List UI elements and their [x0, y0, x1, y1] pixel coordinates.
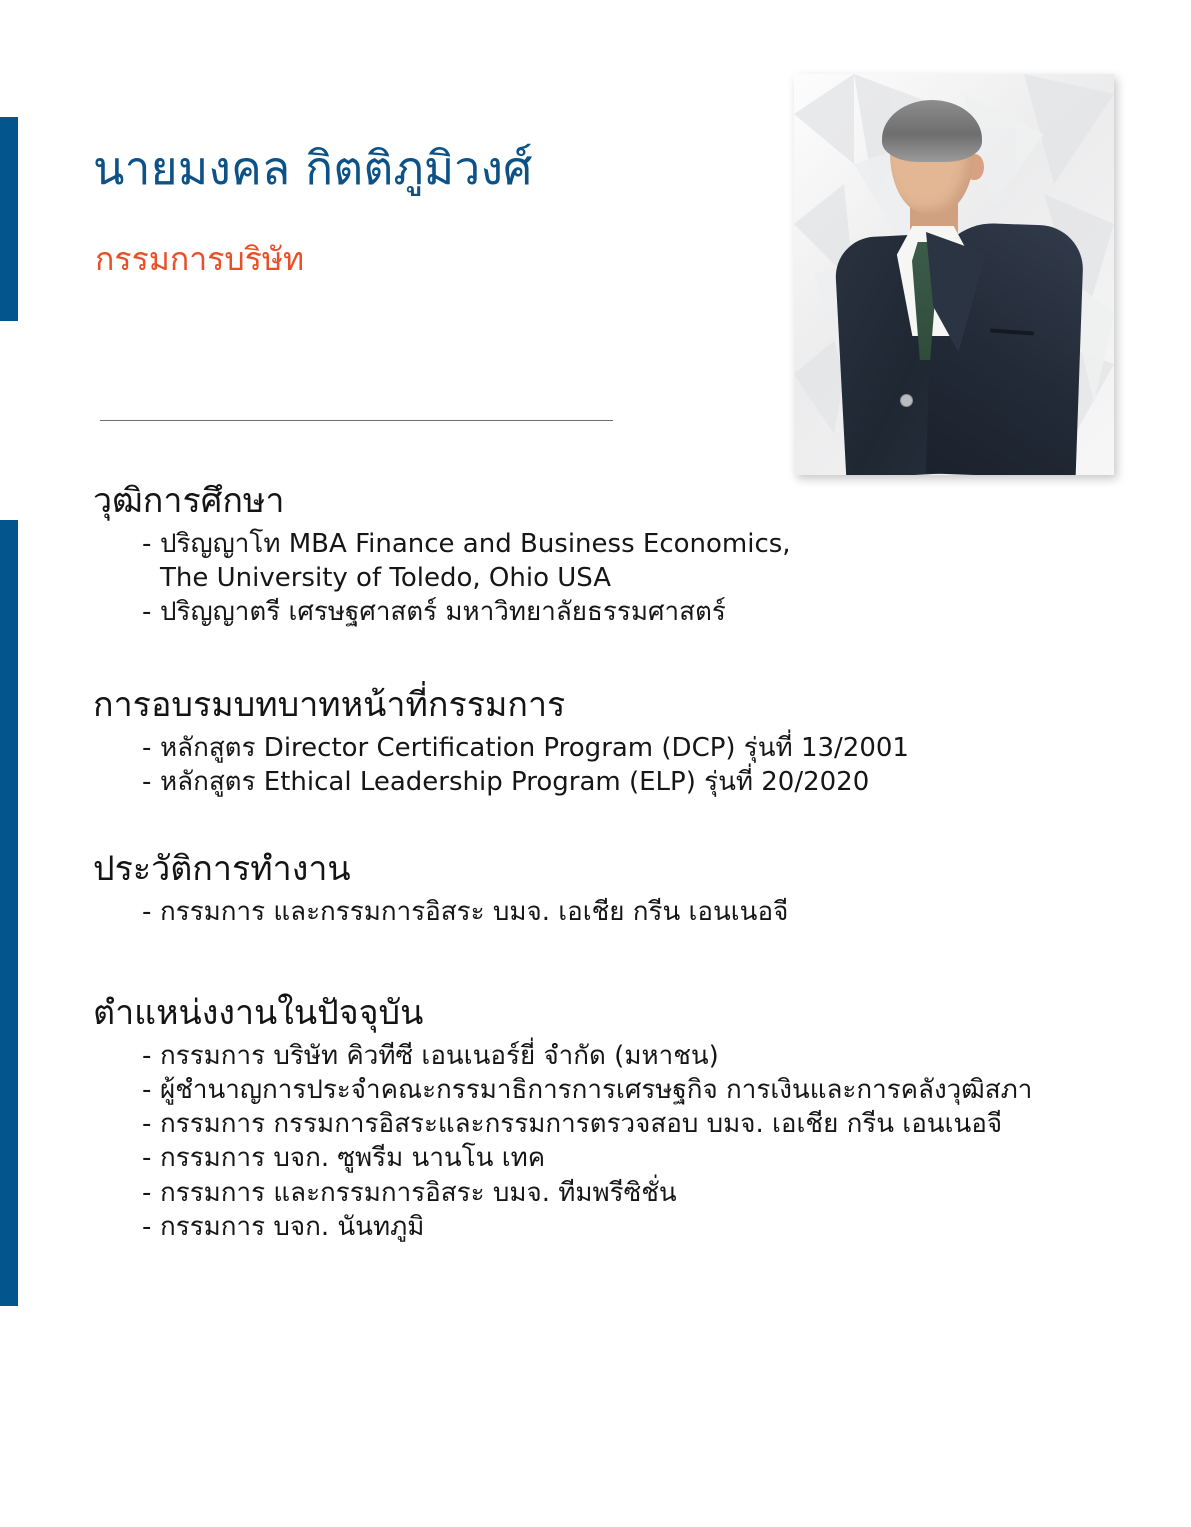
- section-work-history-title: ประวัติการทำงาน: [93, 848, 788, 891]
- section-work-history-list: กรรมการ และกรรมการอิสระ บมจ. เอเชีย กรีน…: [93, 895, 788, 929]
- accent-bar-bottom: [0, 520, 18, 1306]
- list-item: ปริญญาตรี เศรษฐศาสตร์ มหาวิทยาลัยธรรมศาส…: [93, 595, 791, 629]
- section-training-list: หลักสูตร Director Certification Program …: [93, 731, 909, 800]
- list-item: ปริญญาโท MBA Finance and Business Econom…: [93, 527, 791, 596]
- list-item: กรรมการ บจก. ซูพรีม นานโน เทค: [93, 1141, 1032, 1175]
- header-divider: [100, 420, 613, 421]
- portrait-photo: [794, 74, 1114, 475]
- section-work-history: ประวัติการทำงาน กรรมการ และกรรมการอิสระ …: [93, 848, 788, 929]
- portrait-figure: [794, 74, 1114, 475]
- list-item: หลักสูตร Ethical Leadership Program (ELP…: [93, 765, 909, 799]
- list-item: กรรมการ และกรรมการอิสระ บมจ. ทีมพรีซิชั่…: [93, 1176, 1032, 1210]
- list-item: กรรมการ กรรมการอิสระและกรรมการตรวจสอบ บม…: [93, 1107, 1032, 1141]
- section-education: วุฒิการศึกษา ปริญญาโท MBA Finance and Bu…: [93, 480, 791, 629]
- accent-bar-top: [0, 117, 18, 321]
- list-item: กรรมการ บจก. นันทภูมิ: [93, 1210, 1032, 1244]
- section-education-list: ปริญญาโท MBA Finance and Business Econom…: [93, 527, 791, 630]
- hair: [882, 100, 982, 162]
- section-training: การอบรมบทบาทหน้าที่กรรมการ หลักสูตร Dire…: [93, 684, 909, 799]
- section-education-title: วุฒิการศึกษา: [93, 480, 791, 523]
- person-role: กรรมการบริษัท: [95, 240, 304, 278]
- list-item: หลักสูตร Director Certification Program …: [93, 731, 909, 765]
- person-name: นายมงคล กิตติภูมิวงศ์: [93, 142, 533, 195]
- section-current-positions-title: ตำแหน่งงานในปัจจุบัน: [93, 992, 1032, 1035]
- suit-button: [900, 394, 913, 407]
- list-item: กรรมการ บริษัท คิวทีซี เอนเนอร์ยี่ จำกัด…: [93, 1039, 1032, 1073]
- list-item: ผู้ชำนาญการประจำคณะกรรมาธิการการเศรษฐกิจ…: [93, 1073, 1032, 1107]
- section-current-positions: ตำแหน่งงานในปัจจุบัน กรรมการ บริษัท คิวท…: [93, 992, 1032, 1244]
- section-training-title: การอบรมบทบาทหน้าที่กรรมการ: [93, 684, 909, 727]
- list-item: กรรมการ และกรรมการอิสระ บมจ. เอเชีย กรีน…: [93, 895, 788, 929]
- profile-page: นายมงคล กิตติภูมิวงศ์ กรรมการบริษัท: [0, 0, 1191, 1527]
- section-current-positions-list: กรรมการ บริษัท คิวทีซี เอนเนอร์ยี่ จำกัด…: [93, 1039, 1032, 1245]
